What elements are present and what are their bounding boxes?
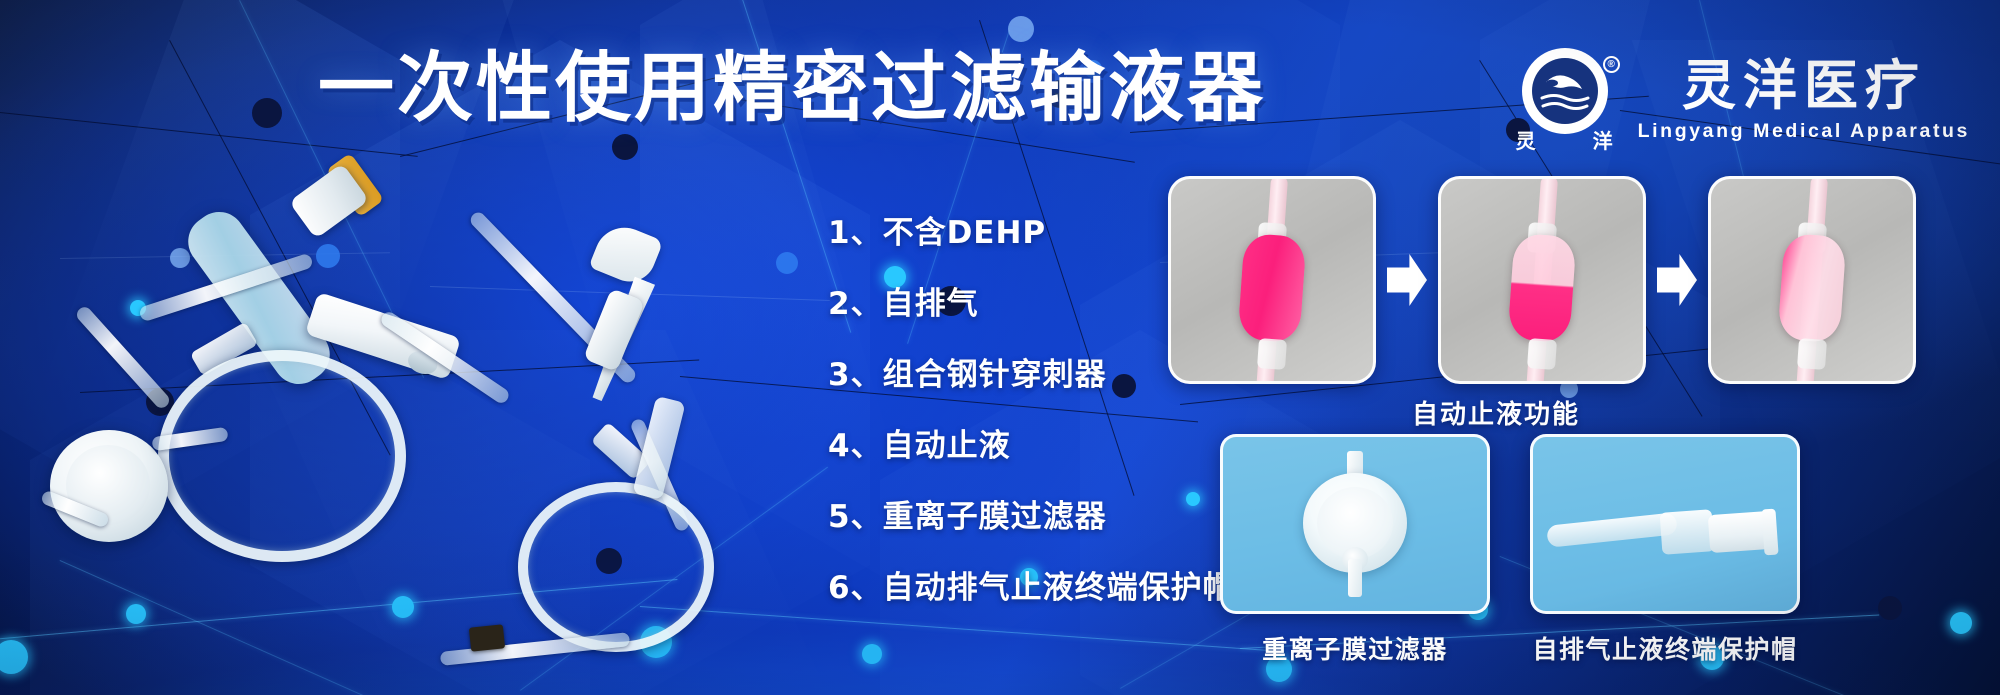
product-banner: 一次性使用精密过滤输液器 ® 灵 洋 灵洋医疗 Lingyang Medical… xyxy=(0,0,2000,695)
vignette-overlay xyxy=(0,0,2000,695)
